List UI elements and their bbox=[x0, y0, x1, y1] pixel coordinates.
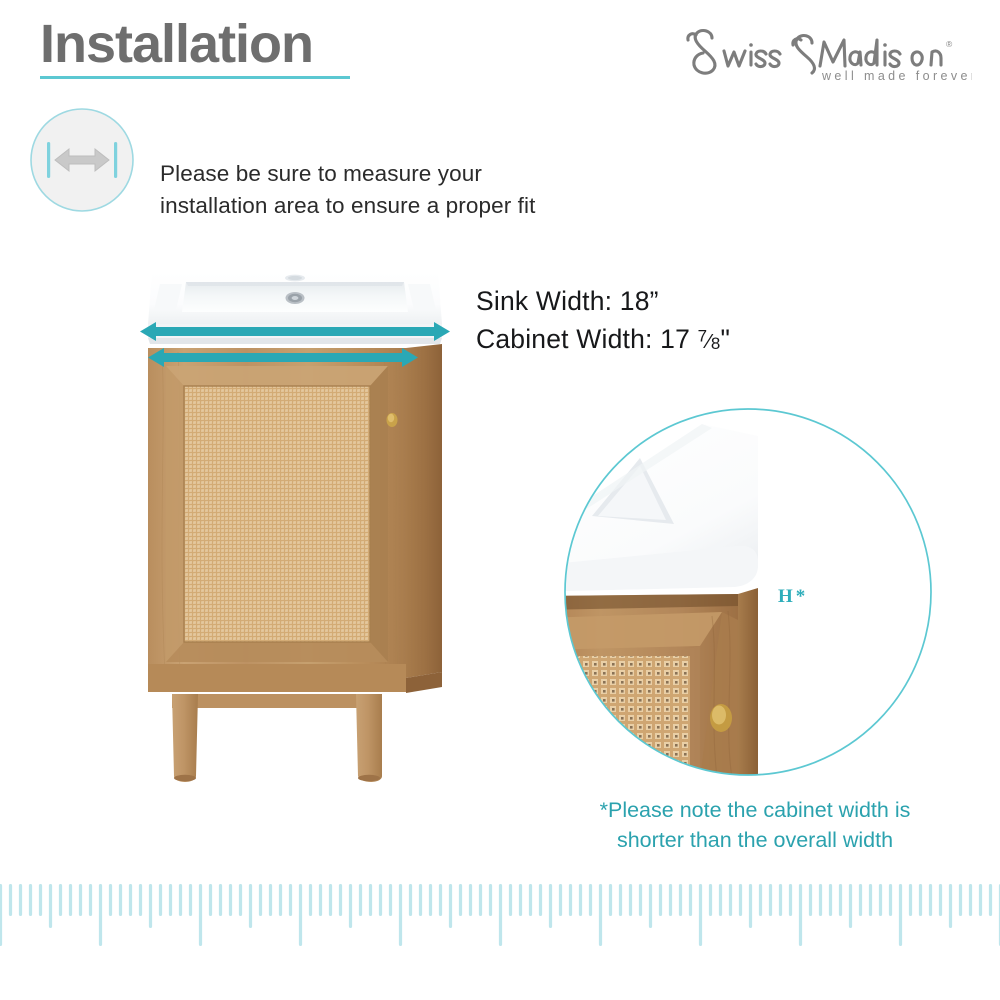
ruler-tick bbox=[919, 884, 922, 916]
ruler-tick bbox=[859, 884, 862, 916]
ruler-tick bbox=[749, 884, 752, 928]
ruler-tick bbox=[39, 884, 42, 916]
ruler-tick bbox=[439, 884, 442, 916]
overhang-marker-asterisk: * bbox=[796, 586, 809, 607]
ruler-tick bbox=[529, 884, 532, 916]
cabinet-width-label: Cabinet Width: 17 7⁄8" bbox=[476, 320, 730, 358]
detail-zoom-circle bbox=[562, 406, 934, 778]
ruler-tick bbox=[449, 884, 452, 928]
ruler-tick bbox=[189, 884, 192, 916]
ruler-tick bbox=[159, 884, 162, 916]
ruler-tick bbox=[789, 884, 792, 916]
ruler-tick bbox=[909, 884, 912, 916]
ruler-tick bbox=[279, 884, 282, 916]
ruler-tick bbox=[49, 884, 52, 928]
ruler-tick bbox=[609, 884, 612, 916]
ruler-tick bbox=[629, 884, 632, 916]
ruler-tick bbox=[239, 884, 242, 916]
ruler-tick bbox=[59, 884, 62, 916]
ruler-tick bbox=[409, 884, 412, 916]
cabinet-width-fraction: 7⁄8 bbox=[698, 330, 721, 353]
ruler-tick bbox=[699, 884, 702, 946]
ruler-tick bbox=[929, 884, 932, 916]
footnote-line-2: shorter than the overall width bbox=[560, 826, 950, 856]
ruler-tick bbox=[109, 884, 112, 916]
ruler-tick bbox=[759, 884, 762, 916]
ruler-tick bbox=[569, 884, 572, 916]
ruler-tick bbox=[619, 884, 622, 916]
ruler-tick bbox=[889, 884, 892, 916]
ruler-tick bbox=[119, 884, 122, 916]
vanity-leg-right bbox=[356, 694, 382, 782]
ruler-tick bbox=[679, 884, 682, 916]
ruler-tick bbox=[99, 884, 102, 946]
ruler-tick bbox=[709, 884, 712, 916]
ruler-tick bbox=[79, 884, 82, 916]
ruler-tick bbox=[359, 884, 362, 916]
ruler-tick bbox=[559, 884, 562, 916]
ruler-tick bbox=[549, 884, 552, 928]
ruler-tick bbox=[979, 884, 982, 916]
ruler-tick bbox=[129, 884, 132, 916]
ruler-tick bbox=[659, 884, 662, 916]
ruler-tick bbox=[69, 884, 72, 916]
ruler-tick bbox=[229, 884, 232, 916]
ruler-tick bbox=[219, 884, 222, 916]
dimension-labels: Sink Width: 18” Cabinet Width: 17 7⁄8" bbox=[476, 282, 730, 359]
ruler-tick bbox=[89, 884, 92, 916]
ruler-tick bbox=[139, 884, 142, 916]
ruler-decoration bbox=[0, 878, 1000, 1000]
title-underline bbox=[40, 76, 350, 79]
ruler-tick bbox=[899, 884, 902, 946]
ruler-tick bbox=[419, 884, 422, 916]
ruler-tick bbox=[399, 884, 402, 946]
ruler-tick bbox=[269, 884, 272, 916]
ruler-tick bbox=[849, 884, 852, 928]
measure-note: Please be sure to measure your installat… bbox=[160, 158, 535, 222]
ruler-tick bbox=[869, 884, 872, 916]
ruler-tick bbox=[259, 884, 262, 916]
ruler-tick bbox=[519, 884, 522, 916]
ruler-tick bbox=[0, 884, 2, 946]
ruler-tick bbox=[949, 884, 952, 928]
vanity-leg-left bbox=[172, 694, 198, 782]
ruler-tick bbox=[579, 884, 582, 916]
ruler-tick bbox=[939, 884, 942, 916]
ruler-tick bbox=[329, 884, 332, 916]
ruler-tick bbox=[209, 884, 212, 916]
ruler-tick bbox=[479, 884, 482, 916]
ruler-tick bbox=[339, 884, 342, 916]
ruler-tick bbox=[349, 884, 352, 928]
ruler-tick bbox=[669, 884, 672, 916]
footnote-line-1: *Please note the cabinet width is bbox=[560, 796, 950, 826]
ruler-tick bbox=[779, 884, 782, 916]
ruler-tick bbox=[299, 884, 302, 946]
ruler-tick bbox=[879, 884, 882, 916]
ruler-tick bbox=[249, 884, 252, 928]
ruler-tick bbox=[719, 884, 722, 916]
ruler-tick bbox=[989, 884, 992, 916]
fraction-numerator: 7 bbox=[698, 327, 708, 346]
brand-tagline: well made forever bbox=[821, 69, 972, 83]
ruler-tick bbox=[19, 884, 22, 916]
ruler-tick bbox=[799, 884, 802, 946]
ruler-tick bbox=[389, 884, 392, 916]
ruler-tick bbox=[459, 884, 462, 916]
ruler-tick bbox=[539, 884, 542, 916]
page-title: Installation bbox=[40, 16, 313, 73]
ruler-tick bbox=[649, 884, 652, 928]
ruler-tick bbox=[689, 884, 692, 916]
ruler-tick bbox=[309, 884, 312, 916]
ruler-tick bbox=[959, 884, 962, 916]
ruler-tick bbox=[469, 884, 472, 916]
ruler-tick bbox=[179, 884, 182, 916]
cabinet-width-text: Cabinet Width: 17 bbox=[476, 324, 698, 354]
ruler-tick bbox=[499, 884, 502, 946]
ruler-tick bbox=[819, 884, 822, 916]
ruler-tick bbox=[769, 884, 772, 916]
installation-page: Installation bbox=[0, 0, 1000, 1000]
ruler-tick bbox=[289, 884, 292, 916]
measure-note-line-2: installation area to ensure a proper fit bbox=[160, 190, 535, 222]
ruler-tick bbox=[639, 884, 642, 916]
registered-mark: ® bbox=[946, 39, 953, 49]
swiss-madison-logo: ® well made forever bbox=[672, 18, 972, 88]
ruler-tick bbox=[369, 884, 372, 916]
ruler-tick bbox=[169, 884, 172, 916]
ruler-tick bbox=[969, 884, 972, 916]
ruler-tick bbox=[319, 884, 322, 916]
ruler-tick bbox=[729, 884, 732, 916]
overhang-marker: H* bbox=[778, 586, 808, 608]
ruler-tick bbox=[509, 884, 512, 916]
ruler-tick bbox=[489, 884, 492, 916]
fraction-denominator: 8 bbox=[711, 334, 721, 353]
sink-width-label: Sink Width: 18” bbox=[476, 282, 730, 320]
measure-width-icon bbox=[28, 106, 136, 214]
ruler-tick bbox=[809, 884, 812, 916]
ruler-tick bbox=[29, 884, 32, 916]
overhang-marker-letter: H bbox=[778, 586, 796, 607]
ruler-tick bbox=[829, 884, 832, 916]
cabinet-width-footnote: *Please note the cabinet width is shorte… bbox=[560, 796, 950, 855]
ruler-tick bbox=[839, 884, 842, 916]
ruler-tick bbox=[199, 884, 202, 946]
ruler-tick bbox=[739, 884, 742, 916]
ruler-tick bbox=[599, 884, 602, 946]
ruler-tick bbox=[589, 884, 592, 916]
ruler-tick bbox=[429, 884, 432, 916]
ruler-tick bbox=[379, 884, 382, 916]
measure-note-line-1: Please be sure to measure your bbox=[160, 158, 535, 190]
ruler-tick bbox=[9, 884, 12, 916]
cabinet-width-unit: " bbox=[721, 324, 731, 354]
vanity-illustration bbox=[120, 232, 470, 802]
ruler-tick bbox=[149, 884, 152, 928]
